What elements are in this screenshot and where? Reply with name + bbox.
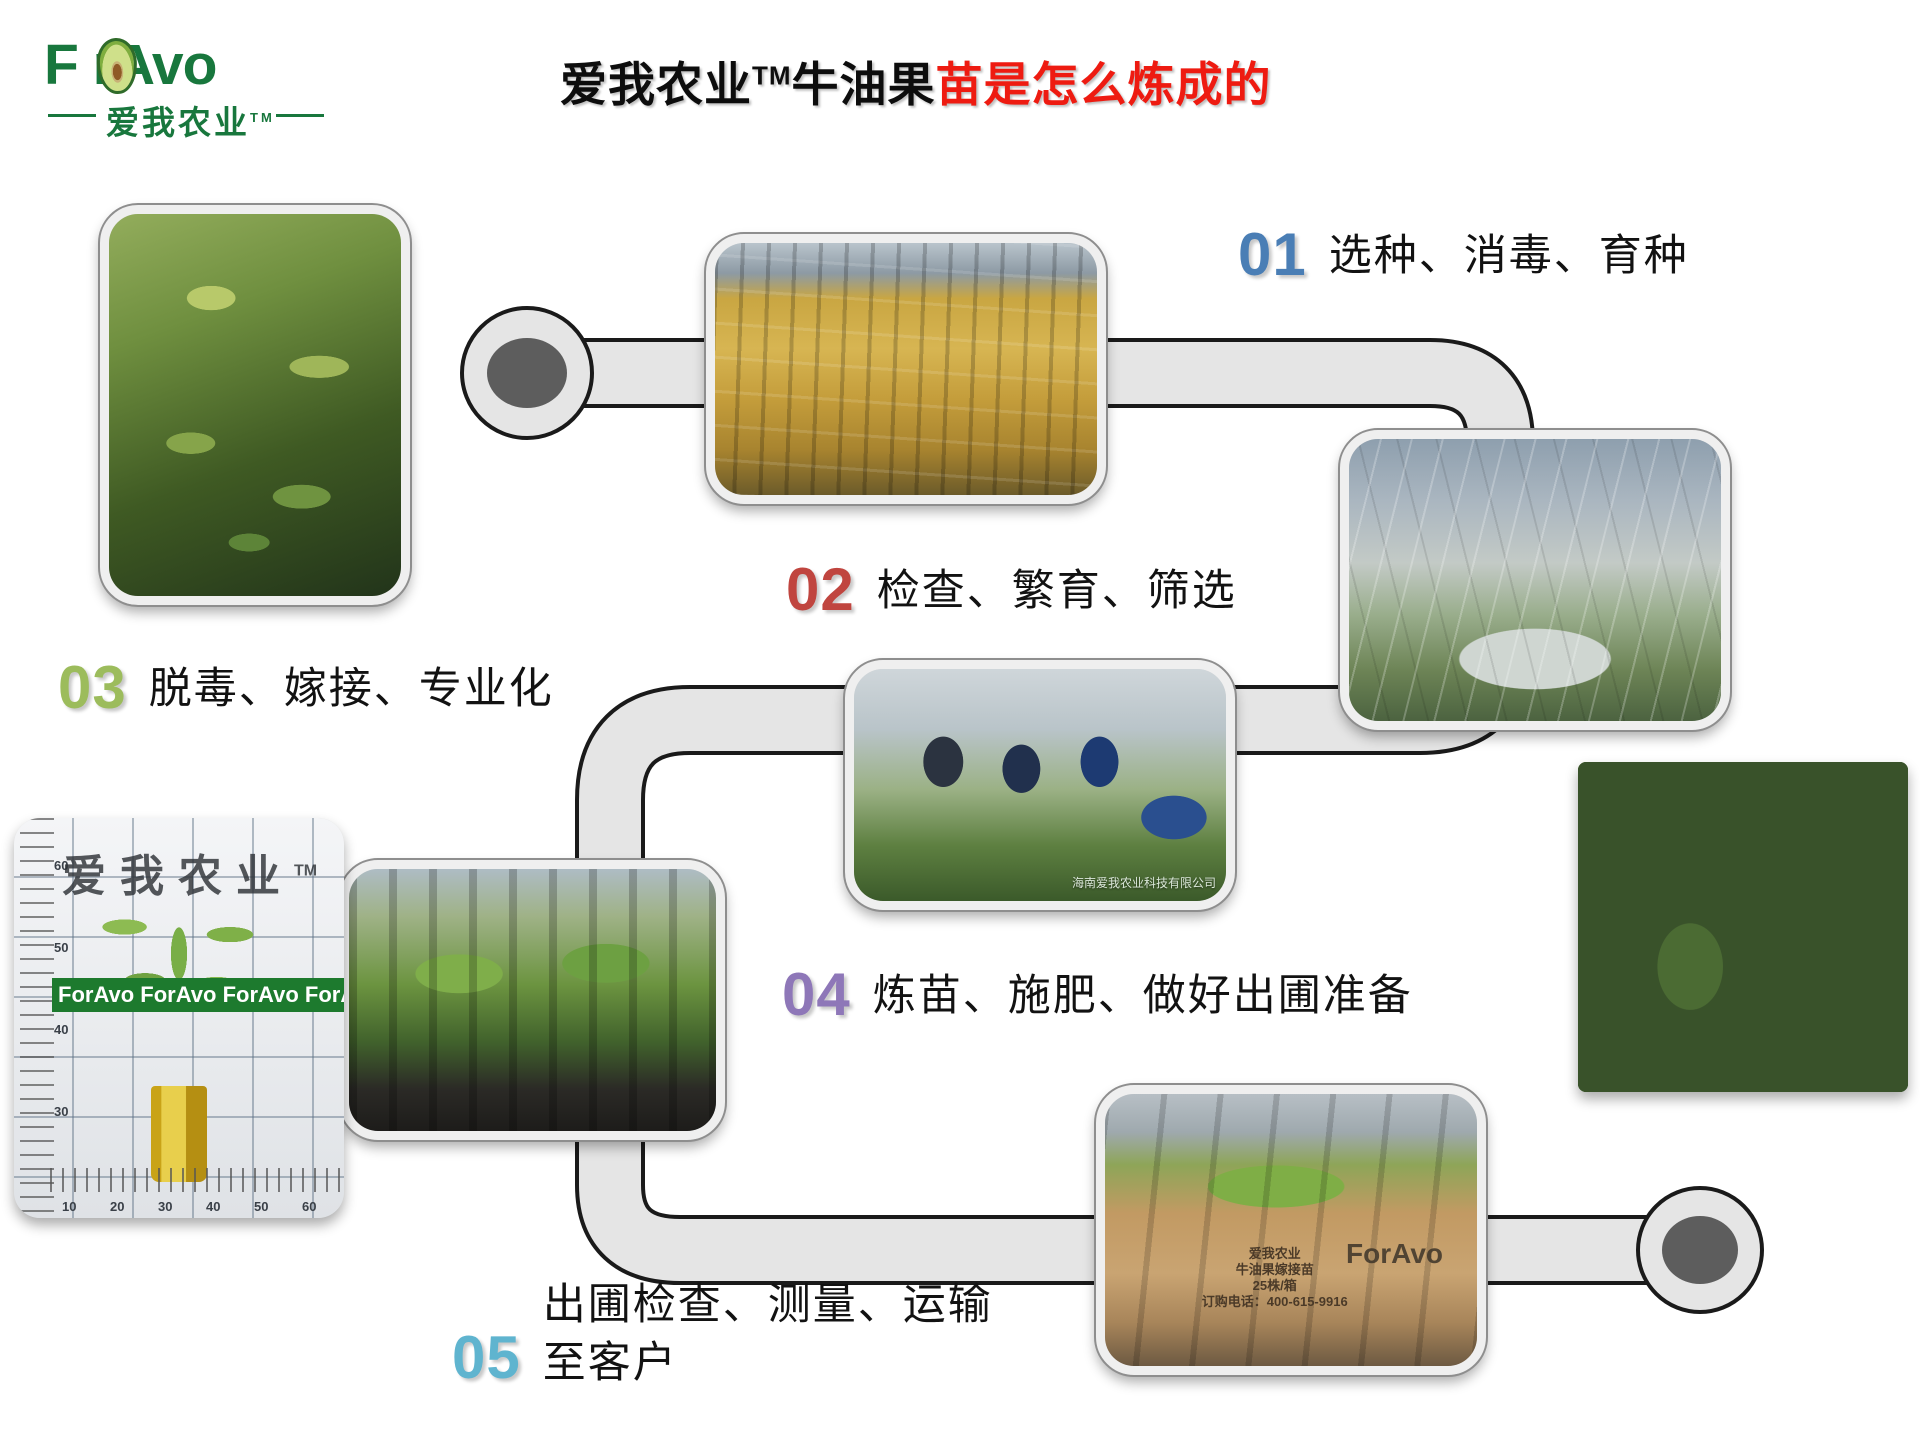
step-04-number: 04	[782, 965, 851, 1025]
photo-packed-shipping-boxes: ForAvo 爱我农业 牛油果嫁接苗 25株/箱 订购电话：400-615-99…	[1096, 1085, 1486, 1375]
step-02: 02 检查、繁育、筛选	[786, 560, 1237, 620]
ruler-num-40: 40	[54, 1022, 68, 1037]
people-photo-watermark: 海南爱我农业科技有限公司	[1072, 874, 1216, 891]
step-05: 05 出圃检查、测量、运输 至客户	[452, 1272, 993, 1392]
step-04-label: 炼苗、施肥、做好出圃准备	[873, 965, 1413, 1023]
step-04: 04 炼苗、施肥、做好出圃准备	[782, 965, 1413, 1025]
box-label-line4: 订购电话：400-615-9916	[1202, 1294, 1348, 1310]
photo-avocado-flower-branch-image	[109, 214, 401, 596]
step-03-label: 脱毒、嫁接、专业化	[149, 658, 554, 716]
photo-packed-shipping-boxes-image: ForAvo 爱我农业 牛油果嫁接苗 25株/箱 订购电话：400-615-99…	[1105, 1094, 1477, 1366]
photo-staff-inspecting-seedlings-image: 海南爱我农业科技有限公司	[854, 669, 1226, 901]
step-01: 01 选种、消毒、育种	[1238, 225, 1689, 285]
box-label-line3: 25株/箱	[1202, 1278, 1348, 1294]
logo-rule-right	[276, 114, 324, 117]
photo-greenhouse-grafting-bags	[1340, 430, 1730, 730]
photo-avocado-fruit-on-tree-image	[1578, 762, 1908, 1092]
ruler-brand-band: ForAvo ForAvo ForAvo ForAvo	[52, 978, 344, 1012]
seedling-plant-graphic	[94, 870, 264, 1060]
photo-greenhouse-grafting-bags-image	[1349, 439, 1721, 721]
step-02-label: 检查、繁育、筛选	[877, 560, 1237, 618]
ruler-baseline	[50, 1168, 344, 1192]
step-05-label: 出圃检查、测量、运输 至客户	[543, 1272, 993, 1392]
photo-avocado-fruit-on-tree	[1578, 762, 1908, 1092]
photo-seed-germination-trays	[706, 234, 1106, 504]
photo-potted-seedling-rows-image	[349, 869, 716, 1131]
ruler-tick-marks	[20, 818, 54, 1218]
ruler-base-30: 30	[158, 1199, 172, 1214]
ruler-num-30: 30	[54, 1104, 68, 1119]
logo-chinese-text: 爱我农业	[106, 104, 250, 141]
brand-logo: F rAvo 爱我农业TM	[44, 34, 324, 139]
photo-seed-germination-trays-image	[715, 243, 1097, 495]
logo-chinese-name: 爱我农业TM	[106, 96, 275, 144]
logo-rule-left	[48, 114, 96, 117]
logo-wordmark: F rAvo	[44, 34, 324, 96]
step-03: 03 脱毒、嫁接、专业化	[58, 658, 554, 718]
title-tm: TM	[752, 60, 792, 90]
step-01-number: 01	[1238, 225, 1307, 285]
ruler-base-40: 40	[206, 1199, 220, 1214]
ruler-base-20: 20	[110, 1199, 124, 1214]
page-title: 爱我农业TM牛油果苗是怎么炼成的	[560, 46, 1272, 115]
photo-potted-seedling-rows	[340, 860, 725, 1140]
step-05-number: 05	[452, 1328, 521, 1388]
ruler-num-50: 50	[54, 940, 68, 955]
ruler-base-50: 50	[254, 1199, 268, 1214]
step-03-number: 03	[58, 658, 127, 718]
ruler-watermark-tm: TM	[294, 862, 317, 879]
flow-start-node	[462, 308, 592, 438]
logo-tm: TM	[250, 110, 275, 125]
ruler-base-60: 60	[302, 1199, 316, 1214]
title-middle: 牛油果	[792, 58, 936, 111]
flow-end-node	[1638, 1188, 1762, 1312]
step-02-number: 02	[786, 560, 855, 620]
box-printed-label: 爱我农业 牛油果嫁接苗 25株/箱 订购电话：400-615-9916	[1202, 1246, 1348, 1310]
photo-measured-seedling-ruler-image: 60 50 40 30 爱我农业TM ForAvo ForAvo ForAvo …	[14, 818, 344, 1218]
box-label-line1: 爱我农业	[1202, 1246, 1348, 1262]
photo-measured-seedling-ruler: 60 50 40 30 爱我农业TM ForAvo ForAvo ForAvo …	[14, 818, 344, 1218]
box-brand-text: ForAvo	[1346, 1238, 1443, 1270]
title-prefix: 爱我农业	[560, 58, 752, 111]
box-label-line2: 牛油果嫁接苗	[1202, 1262, 1348, 1278]
step-01-label: 选种、消毒、育种	[1329, 225, 1689, 283]
ruler-base-10: 10	[62, 1199, 76, 1214]
photo-avocado-flower-branch	[100, 205, 410, 605]
title-highlight: 苗是怎么炼成的	[936, 58, 1272, 111]
photo-staff-inspecting-seedlings: 海南爱我农业科技有限公司	[845, 660, 1235, 910]
